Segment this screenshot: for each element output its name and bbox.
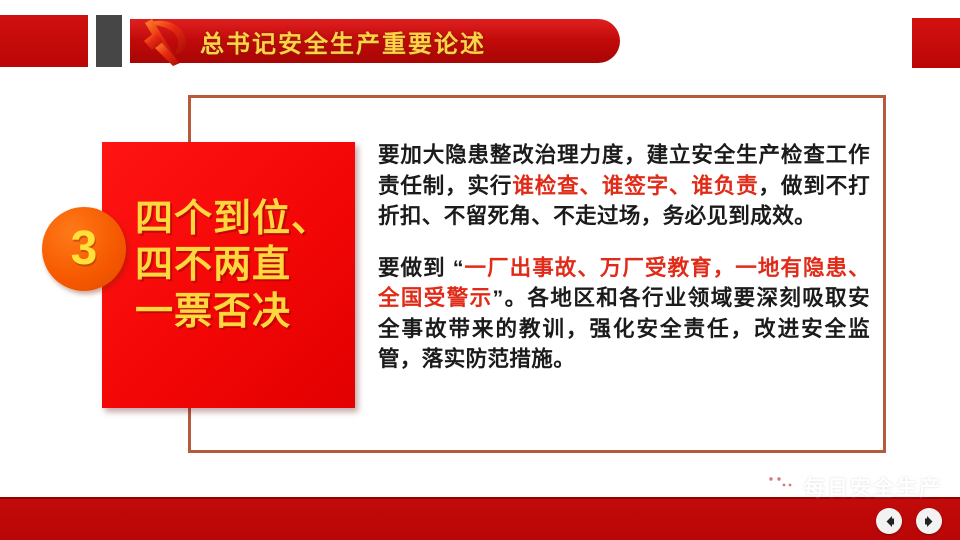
- topic-heading: 四个到位、 四不两直 一票否决: [135, 196, 357, 335]
- page-title: 总书记安全生产重要论述: [200, 24, 486, 59]
- decor-block-top-left-red: [0, 15, 88, 67]
- chevron-left-icon: [883, 515, 896, 528]
- chevron-right-icon: [923, 515, 936, 528]
- body-copy: 要加大隐患整改治理力度，建立安全生产检查工作责任制，实行谁检查、谁签字、谁负责，…: [378, 140, 870, 375]
- body-text: 要做到 “: [378, 256, 464, 280]
- slide-navigation[interactable]: [876, 508, 942, 534]
- prev-slide-button[interactable]: [876, 508, 902, 534]
- cpc-party-emblem-icon: [136, 14, 194, 66]
- slide-number-badge: 3: [42, 207, 126, 291]
- paragraph-2: 要做到 “一厂出事故、万厂受教育，一地有隐患、全国受警示”。各地区和各行业领域要…: [378, 253, 870, 375]
- slide-number-value: 3: [71, 225, 98, 273]
- paragraph-1: 要加大隐患整改治理力度，建立安全生产检查工作责任制，实行谁检查、谁签字、谁负责，…: [378, 140, 870, 232]
- decor-block-top-right-red: [912, 18, 960, 68]
- highlighted-text: 谁检查、谁签字、谁负责: [512, 174, 758, 198]
- footer-band: [0, 497, 960, 540]
- next-slide-button[interactable]: [916, 508, 942, 534]
- decor-block-top-left-gray: [96, 15, 122, 67]
